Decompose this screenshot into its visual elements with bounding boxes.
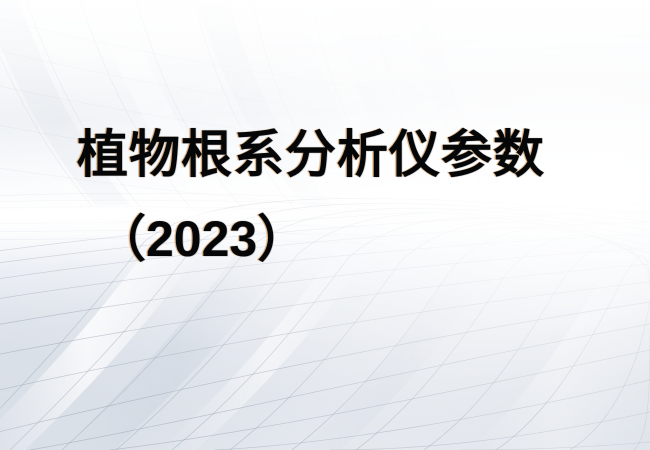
title-slide: 植物根系分析仪参数 （2023） (0, 0, 650, 450)
slide-title-line-1: 植物根系分析仪参数 (77, 126, 545, 184)
slide-title-line-2: （2023） (96, 211, 307, 267)
slide-title-block: 植物根系分析仪参数 （2023） (0, 0, 650, 450)
